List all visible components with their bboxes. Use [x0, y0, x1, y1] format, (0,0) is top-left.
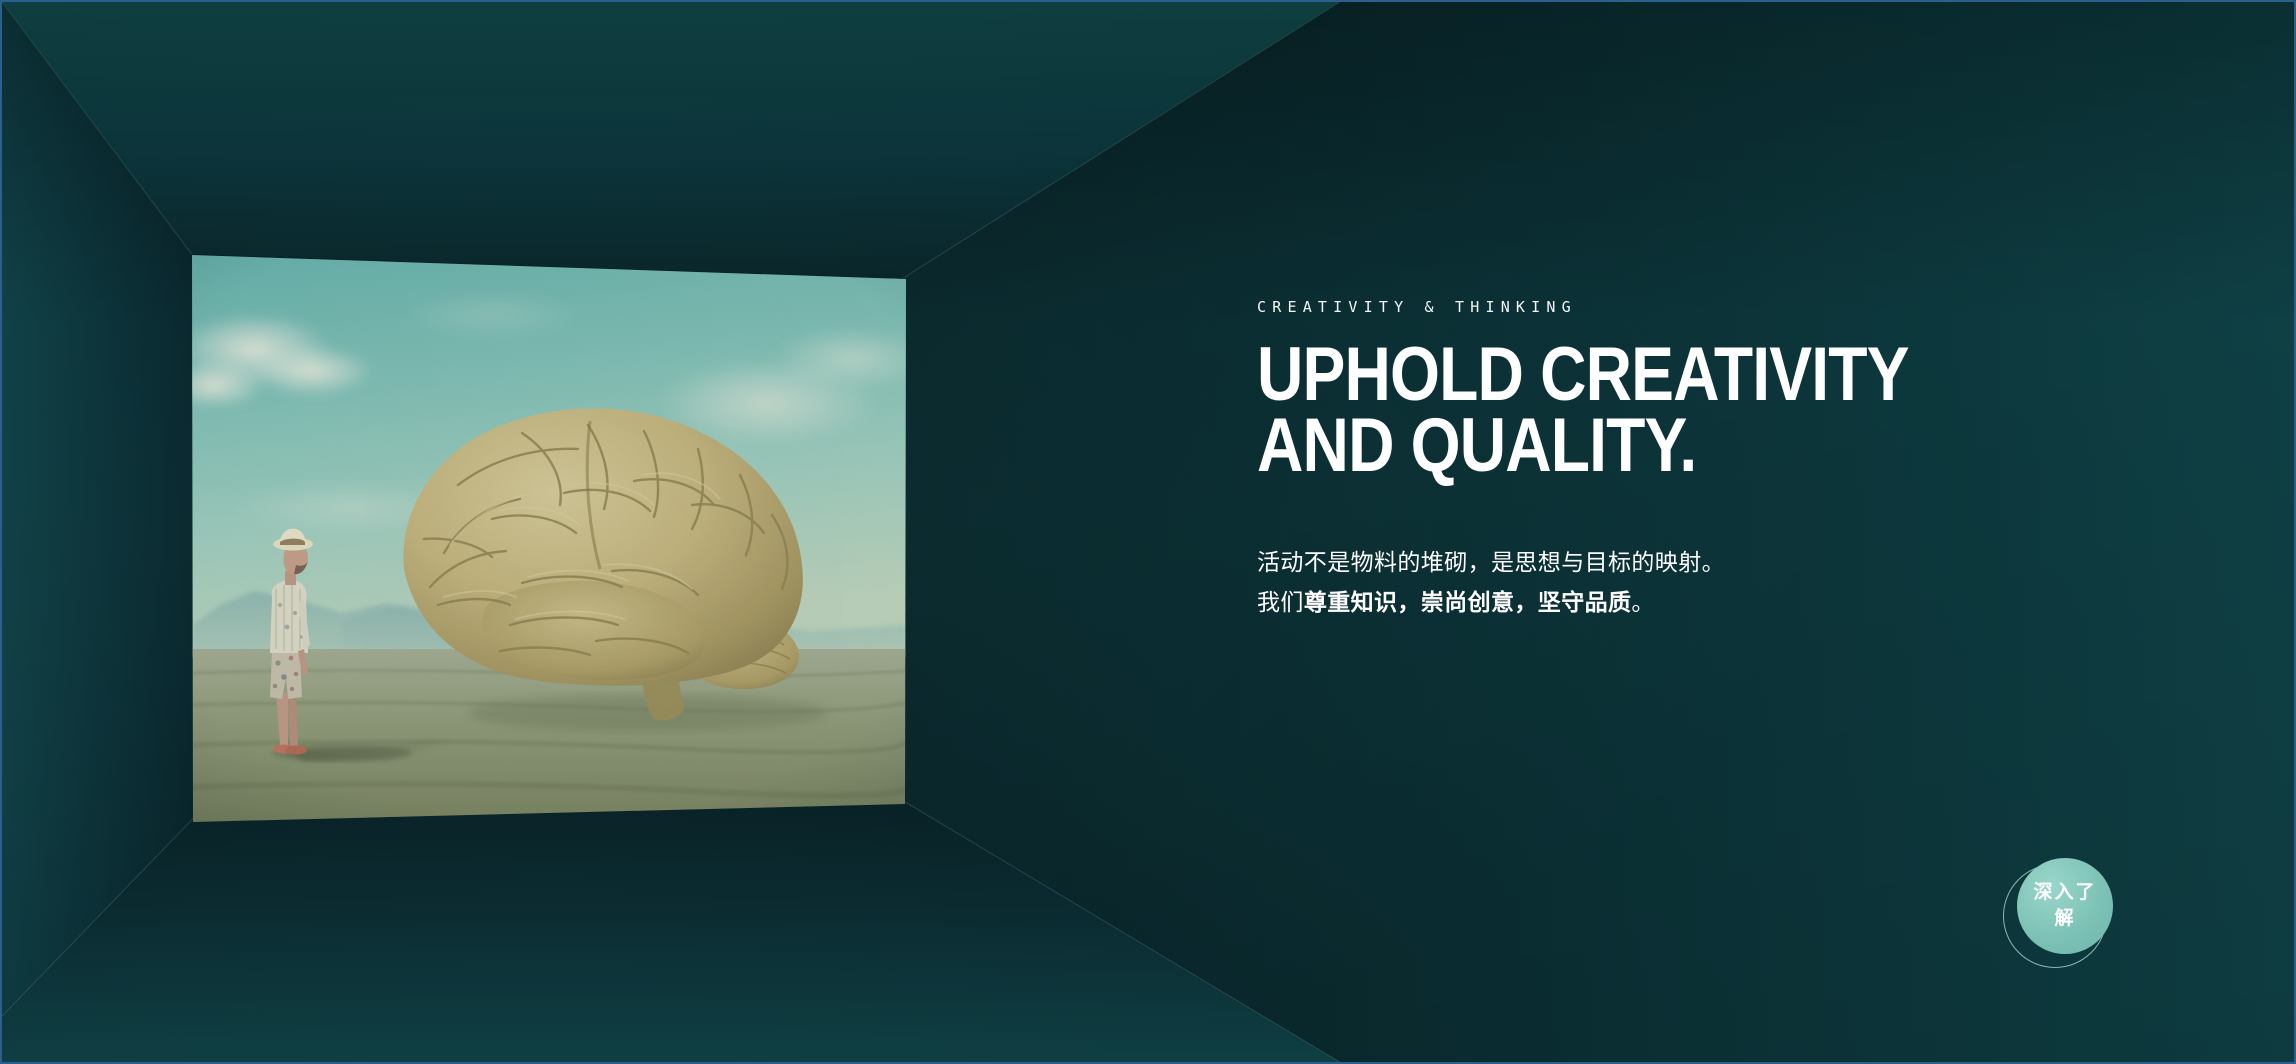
cta-label: 深入了解: [2033, 880, 2097, 931]
hero-description-line-1: 活动不是物料的堆砌，是思想与目标的映射。: [1257, 543, 2137, 583]
hero-image-panel: [192, 253, 906, 822]
description-suffix: 。: [1631, 589, 1654, 615]
learn-more-button[interactable]: 深入了解: [2005, 858, 2115, 968]
hero-description-line-2: 我们尊重知识，崇尚创意，坚守品质。: [1257, 583, 2137, 623]
brain-scene-illustration: [192, 253, 906, 822]
hero-description: 活动不是物料的堆砌，是思想与目标的映射。 我们尊重知识，崇尚创意，坚守品质。: [1257, 543, 2137, 622]
description-prefix: 我们: [1257, 589, 1304, 615]
hero-section: CREATIVITY & THINKING UPHOLD CREATIVITY …: [0, 0, 2296, 1064]
description-emphasis: 尊重知识，崇尚创意，坚守品质: [1304, 589, 1632, 615]
page-title: UPHOLD CREATIVITY AND QUALITY.: [1257, 340, 2001, 481]
hero-text-column: CREATIVITY & THINKING UPHOLD CREATIVITY …: [1257, 298, 2137, 622]
cta-disc[interactable]: 深入了解: [2017, 858, 2113, 954]
hero-eyebrow: CREATIVITY & THINKING: [1257, 298, 2137, 316]
